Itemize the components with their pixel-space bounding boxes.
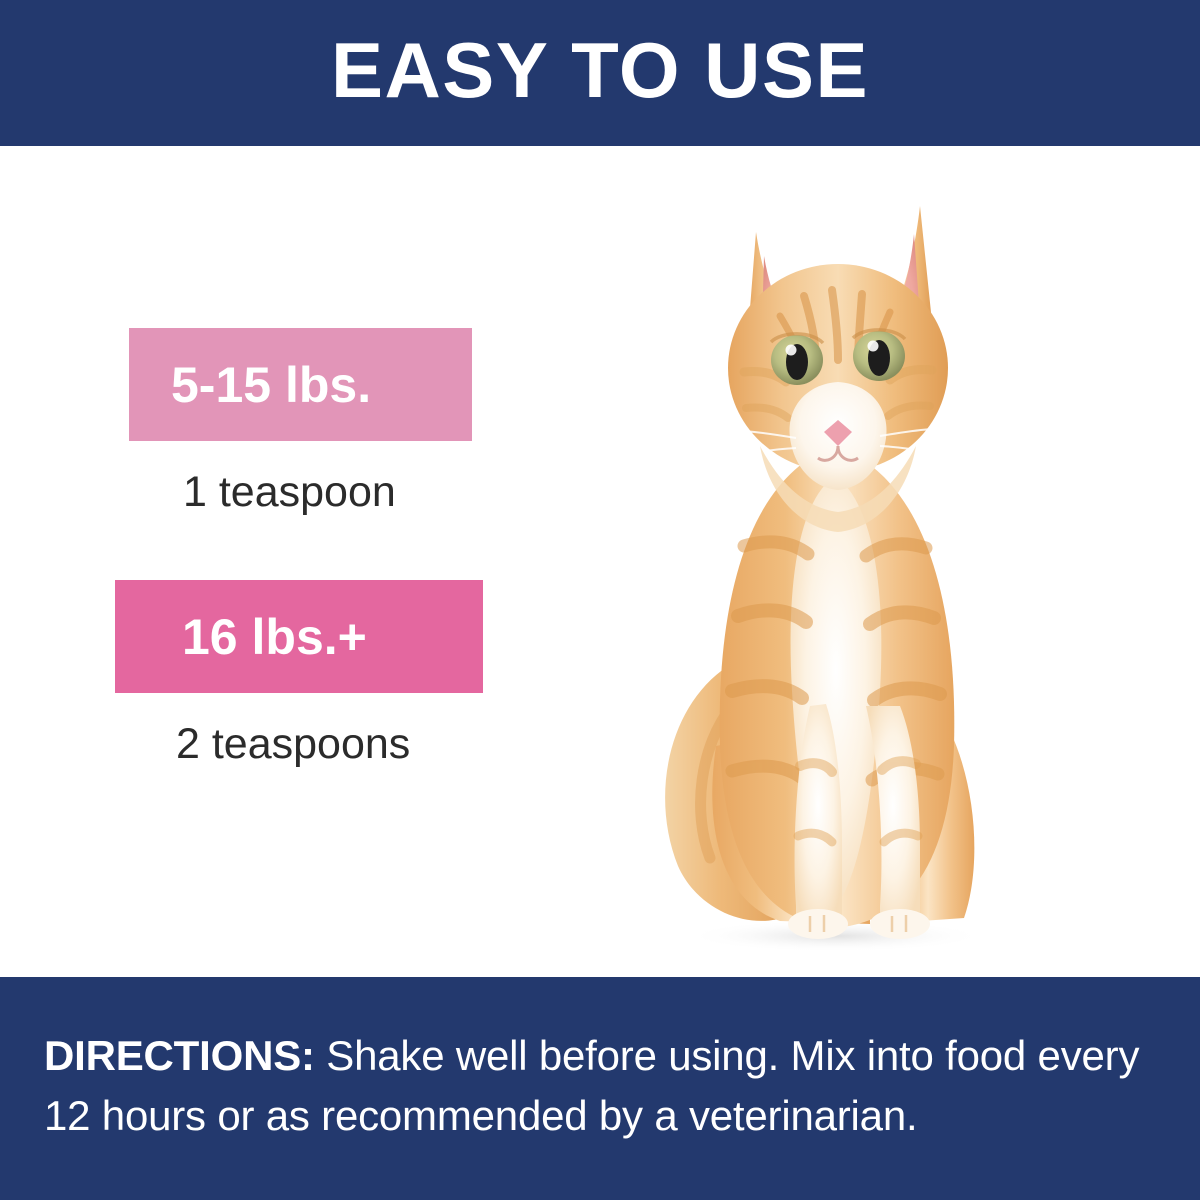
dosage-chart: 5-15 lbs. 1 teaspoon 16 lbs.+ 2 teaspoon… bbox=[0, 146, 600, 977]
dosage-amount-2: 2 teaspoons bbox=[176, 723, 410, 766]
weight-badge-1: 5-15 lbs. bbox=[129, 328, 472, 441]
cat-illustration bbox=[620, 146, 1050, 977]
dosage-amount-1: 1 teaspoon bbox=[183, 471, 396, 514]
weight-badge-1-label: 5-15 lbs. bbox=[171, 360, 371, 410]
weight-badge-2-label: 16 lbs.+ bbox=[182, 612, 367, 662]
cat-paw-right bbox=[870, 909, 930, 939]
directions-label: DIRECTIONS: bbox=[44, 1032, 315, 1079]
weight-badge-2: 16 lbs.+ bbox=[115, 580, 483, 693]
product-infographic: EASY TO USE 5-15 lbs. 1 teaspoon 16 lbs.… bbox=[0, 0, 1200, 1200]
directions-text: DIRECTIONS: Shake well before using. Mix… bbox=[44, 1026, 1156, 1145]
cat-photo bbox=[620, 146, 1050, 977]
main-content: 5-15 lbs. 1 teaspoon 16 lbs.+ 2 teaspoon… bbox=[0, 146, 1200, 977]
cat-paw-left bbox=[788, 909, 848, 939]
header-banner: EASY TO USE bbox=[0, 0, 1200, 146]
page-title: EASY TO USE bbox=[331, 31, 869, 109]
directions-banner: DIRECTIONS: Shake well before using. Mix… bbox=[0, 977, 1200, 1200]
